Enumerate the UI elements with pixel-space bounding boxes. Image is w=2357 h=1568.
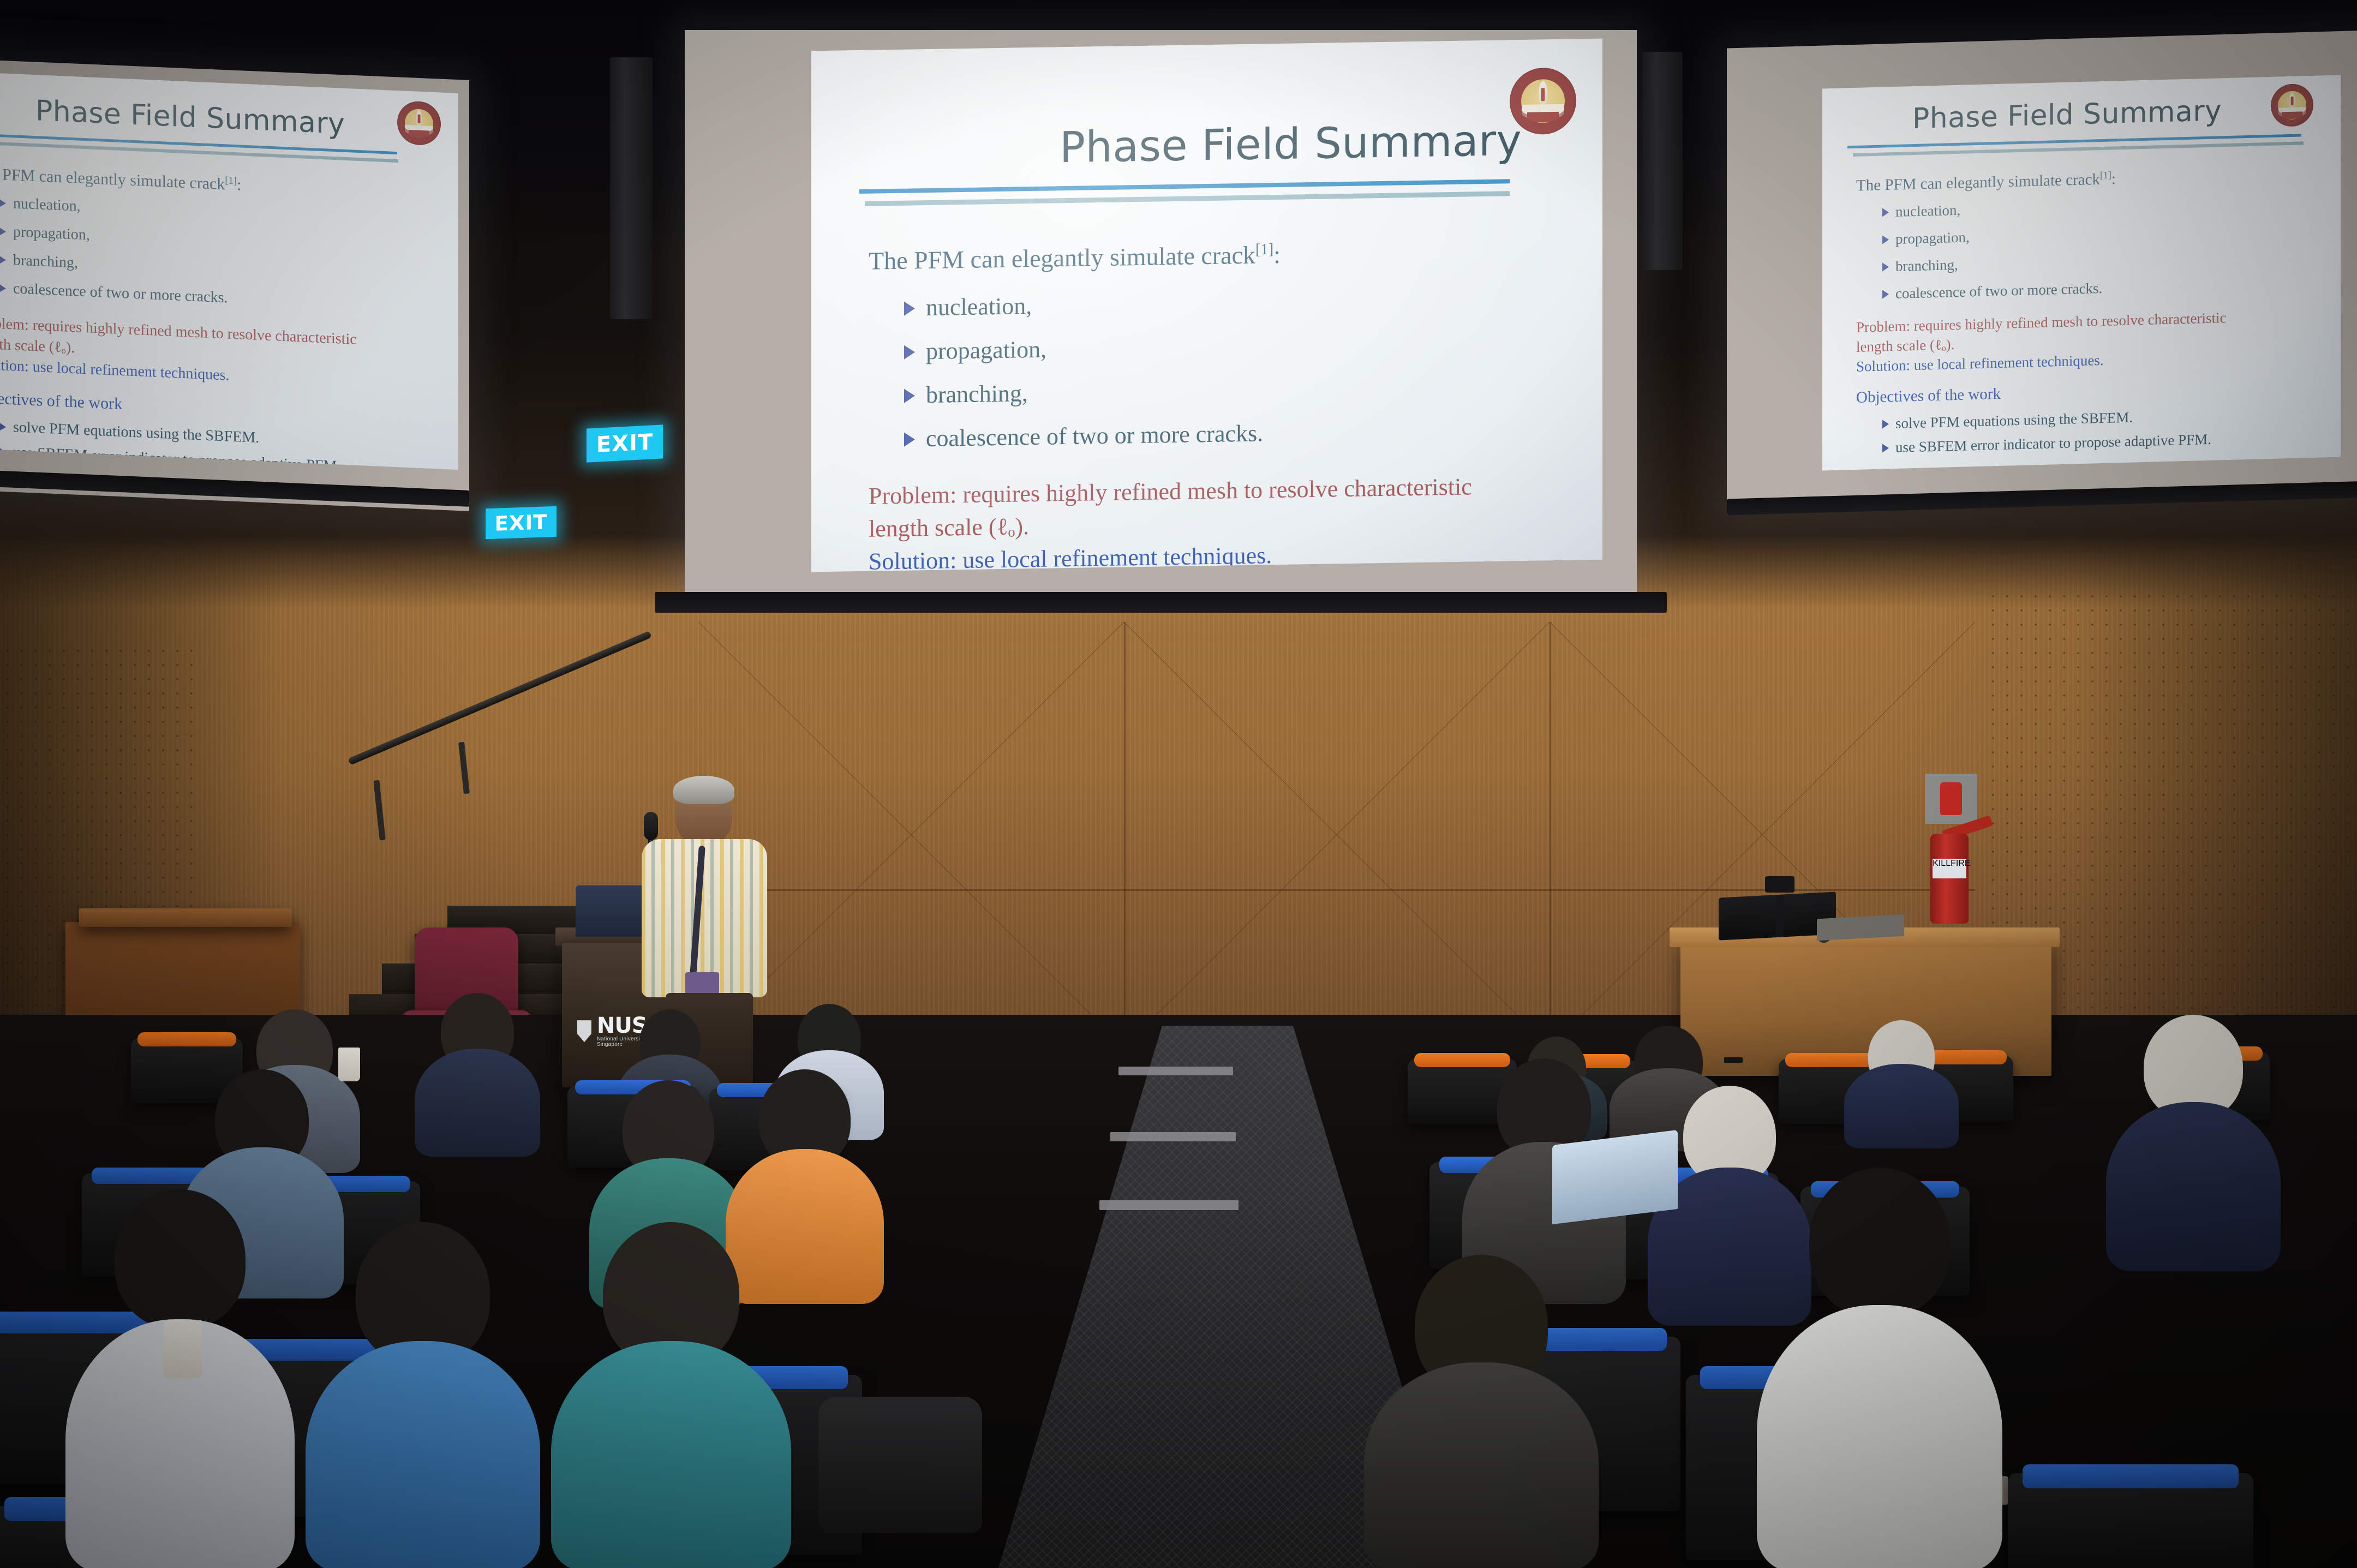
slide-lead-text: The PFM can elegantly simulate crack[1]: (0, 164, 241, 194)
slide-lead-colon: : (1273, 241, 1281, 268)
bullet-triangle-icon (904, 388, 915, 403)
aisle-tread-strip (1118, 1067, 1233, 1075)
slide-lead-phrase: The PFM can elegantly simulate crack (1856, 171, 2100, 195)
slide-lead-text: The PFM can elegantly simulate crack[1]: (869, 240, 1281, 276)
audience-member-foreground (1364, 1255, 1599, 1568)
bullet-triangle-icon (1882, 235, 1889, 244)
bullet-triangle-icon (904, 301, 915, 315)
audience-member (2106, 1015, 2281, 1271)
webcam-icon (1765, 876, 1794, 893)
bullet-triangle-icon (1882, 420, 1889, 428)
fire-extinguisher: KILLFIRE (1930, 834, 1969, 924)
slide-right: Phase Field Summary The PFM can elegantl… (1822, 75, 2341, 471)
objective-label: solve PFM equations using the SBFEM. (1895, 409, 2133, 432)
side-cabinet-top (79, 908, 292, 927)
slide-objective-bullet: solve PFM equations using the SBFEM. (1882, 409, 2133, 433)
objective-label: use SBFEM error indicator to propose ada… (1895, 431, 2211, 456)
title-rule-secondary (865, 191, 1510, 206)
nus-shield-icon (577, 1020, 591, 1042)
bullet-label: branching, (926, 379, 1028, 409)
bullet-triangle-icon (1882, 444, 1889, 452)
slide-bullet: nucleation, (904, 292, 1032, 322)
iit-madras-logo-icon (397, 100, 441, 146)
desk-shelf (1817, 914, 1904, 941)
bullet-triangle-icon (0, 227, 6, 236)
iit-madras-logo-icon (1510, 67, 1576, 135)
audience-member-foreground (1757, 1168, 2002, 1568)
bullet-label: branching, (1895, 256, 1958, 275)
bullet-triangle-icon (1882, 262, 1889, 271)
slide-bullet: nucleation, (1882, 202, 1960, 221)
presenter-hair (673, 776, 734, 804)
slide-objective-bullet: solve PFM equations using the SBFEM. (0, 418, 259, 447)
slide-center: Phase Field Summary The PFM can elegantl… (811, 39, 1602, 572)
slide-problem-line-2: length scale (ℓₒ). (1856, 336, 1954, 356)
slide-lead-text: The PFM can elegantly simulate crack[1]: (1856, 169, 2116, 195)
slide-bullet: nucleation, (0, 194, 81, 216)
slide-bullet: propagation, (0, 223, 90, 244)
bullet-label: propagation, (926, 336, 1046, 365)
objective-label: solve PFM equations using the SBFEM. (13, 418, 259, 447)
slide-problem-line-2: length scale (ℓₒ). (869, 512, 1029, 543)
backpack (818, 1397, 982, 1533)
slide-lead-colon: : (2111, 170, 2116, 188)
coffee-cup (164, 1320, 202, 1378)
slide-bullet: coalescence of two or more cracks. (1882, 280, 2102, 303)
title-rule-primary (859, 179, 1510, 194)
bullet-triangle-icon (904, 345, 915, 359)
slide-problem-line-1: Problem: requires highly refined mesh to… (869, 472, 1472, 510)
slide-lead-phrase: The PFM can elegantly simulate crack (869, 241, 1255, 275)
aisle-tread-strip (1110, 1132, 1236, 1141)
bullet-label: nucleation, (1895, 202, 1960, 220)
bullet-label: propagation, (1895, 229, 1970, 248)
bullet-triangle-icon (904, 432, 915, 446)
slide-lead-superscript: [1] (1255, 241, 1273, 259)
bullet-label: coalescence of two or more cracks. (926, 419, 1263, 452)
slide-objective-bullet: use SBFEM error indicator to propose ada… (1882, 431, 2211, 457)
audience-member-foreground (551, 1222, 791, 1568)
bullet-label: nucleation, (13, 195, 81, 215)
coffee-cup (338, 1048, 360, 1081)
seat-foreground[interactable] (2008, 1473, 2253, 1568)
wall-panel-seam (1124, 622, 1126, 1048)
slide-bullet: coalescence of two or more cracks. (0, 279, 228, 307)
slide-problem-line-1: Problem: requires highly refined mesh to… (1856, 309, 2227, 336)
slide-lead-phrase: The PFM can elegantly simulate crack (0, 164, 225, 193)
slide-lead-colon: : (237, 176, 241, 194)
slide-lead-superscript: [1] (2100, 170, 2111, 181)
slide-bullet: propagation, (904, 336, 1046, 366)
audience-member (415, 993, 540, 1157)
bullet-label: nucleation, (926, 292, 1032, 321)
bullet-triangle-icon (0, 284, 6, 293)
slide-objectives-heading: Objectives of the work (1856, 385, 2001, 407)
bullet-triangle-icon (0, 255, 6, 265)
iit-madras-logo-icon (2271, 83, 2313, 127)
audience-laptop[interactable] (1552, 1130, 1678, 1224)
bullet-triangle-icon (1882, 208, 1889, 217)
audience-member-foreground (306, 1222, 540, 1568)
bullet-label: coalescence of two or more cracks. (13, 280, 228, 307)
wall-panel-seam (1550, 622, 1551, 1048)
speaker-column-right (1642, 52, 1683, 270)
slide-bullet: branching, (904, 379, 1028, 409)
slide-title: Phase Field Summary (1912, 94, 2222, 135)
slide-left: Phase Field Summary The PFM can elegantl… (0, 70, 458, 470)
bullet-triangle-icon (1882, 290, 1889, 298)
exit-sign-lower: EXIT (486, 506, 557, 540)
slide-problem-line-2: length scale (ℓₒ). (0, 335, 75, 357)
extinguisher-label: KILLFIRE (1933, 859, 1966, 878)
center-screen-bottom-bar (655, 592, 1667, 613)
desk-handle (1724, 1057, 1743, 1063)
slide-objectives-heading: Objectives of the work (0, 388, 122, 414)
slide-bullet: coalescence of two or more cracks. (904, 419, 1263, 452)
slide-lead-superscript: [1] (225, 175, 237, 187)
slide-title: Phase Field Summary (1060, 116, 1522, 172)
bullet-label: propagation, (13, 223, 90, 244)
exit-sign-upper: EXIT (587, 424, 663, 462)
slide-bullet: branching, (1882, 256, 1958, 276)
audience-member (1844, 1020, 1959, 1148)
lecture-hall-photo: Phase Field Summary The PFM can elegantl… (0, 0, 2357, 1568)
bullet-label: coalescence of two or more cracks. (1895, 280, 2102, 302)
audience-member-foreground (65, 1189, 295, 1568)
slide-solution-line: Solution: use local refinement technique… (1856, 352, 2104, 375)
slide-bullet: propagation, (1882, 229, 1970, 248)
speaker-column-left (610, 57, 653, 319)
fire-extinguisher-sign-icon (1925, 774, 1977, 824)
slide-title: Phase Field Summary (35, 94, 345, 141)
camera-pole (1776, 895, 1784, 937)
slide-bullet: branching, (0, 251, 78, 272)
bullet-label: branching, (13, 252, 78, 272)
bullet-triangle-icon (0, 422, 6, 432)
slide-solution-line: Solution: use local refinement technique… (0, 356, 229, 385)
aisle-tread-strip (1099, 1200, 1239, 1210)
bullet-triangle-icon (0, 199, 6, 208)
